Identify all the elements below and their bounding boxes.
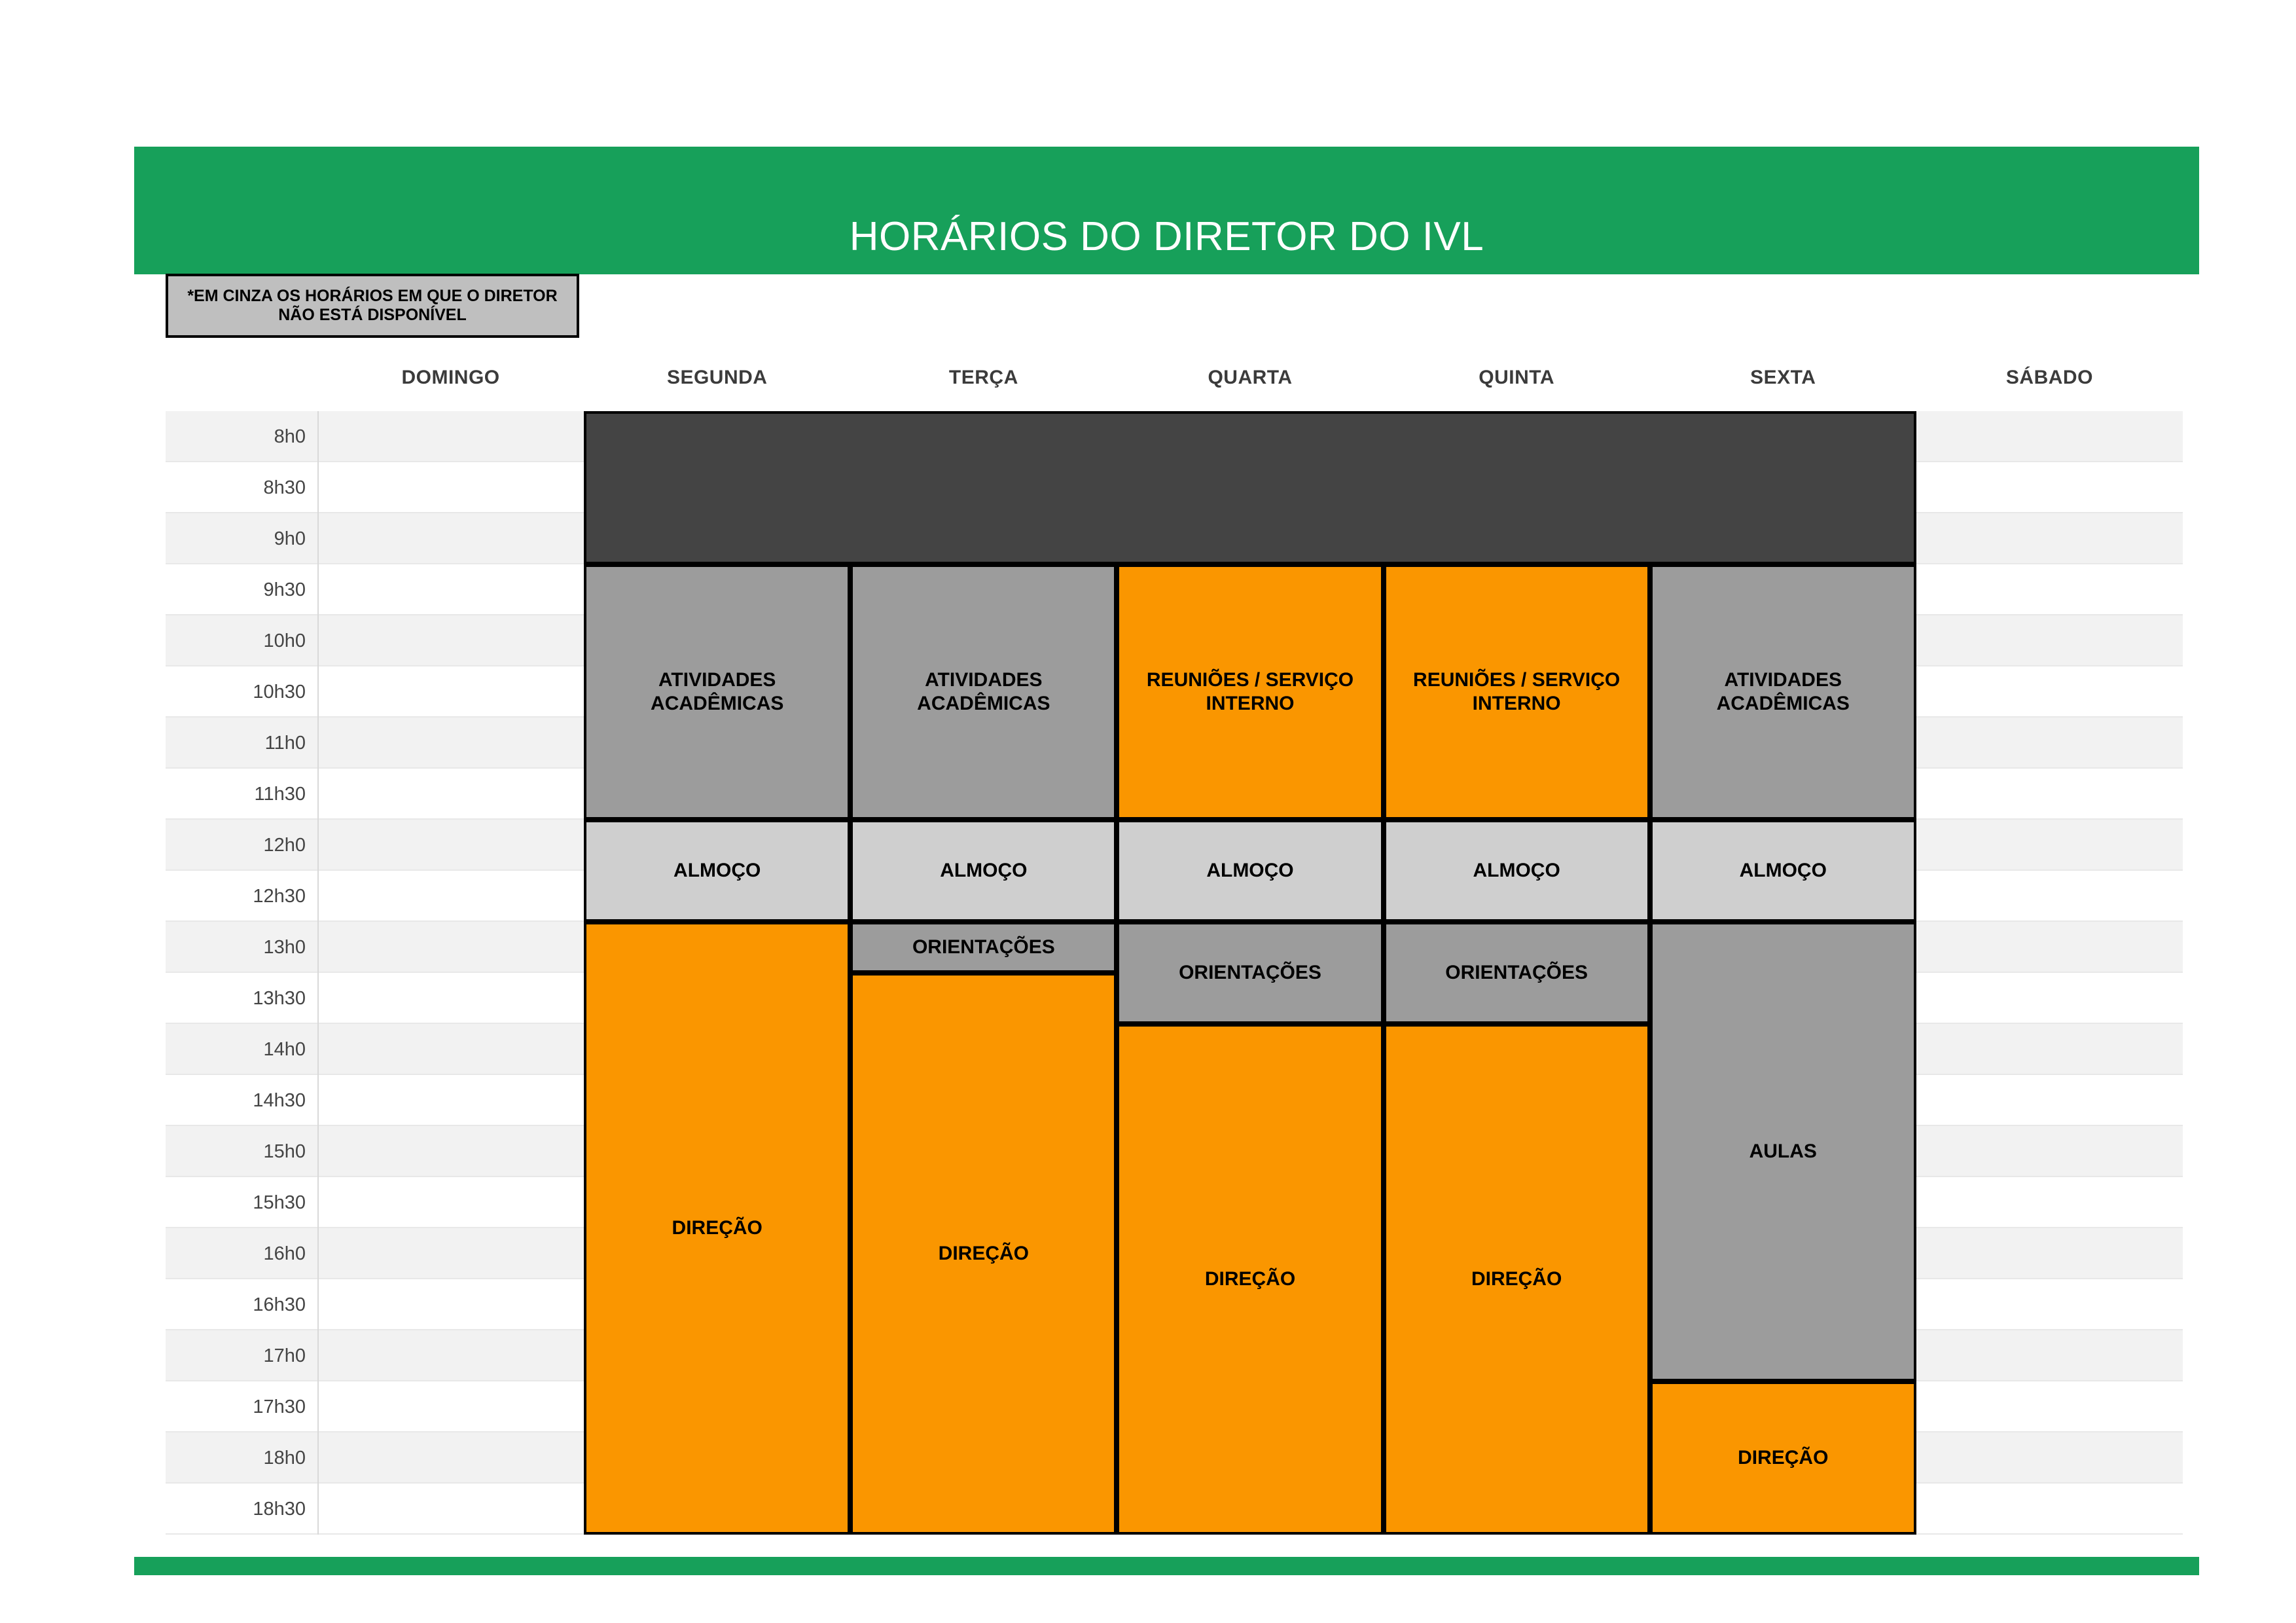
event-block-ter-orientacoes[interactable]: ORIENTAÇÕES	[850, 922, 1117, 973]
event-block-seg-direcao[interactable]: DIREÇÃO	[584, 922, 850, 1535]
time-label: 8h0	[166, 411, 317, 462]
time-label: 11h0	[166, 718, 317, 769]
event-block-qua-reunioes[interactable]: REUNIÕES / SERVIÇO INTERNO	[1117, 564, 1383, 820]
time-label: 10h0	[166, 615, 317, 666]
event-block-qui-reunioes[interactable]: REUNIÕES / SERVIÇO INTERNO	[1384, 564, 1650, 820]
schedule-page: HORÁRIOS DO DIRETOR DO IVL *EM CINZA OS …	[0, 0, 2296, 1623]
event-block-qui-orientacoes[interactable]: ORIENTAÇÕES	[1384, 922, 1650, 1024]
page-title: HORÁRIOS DO DIRETOR DO IVL	[850, 213, 1484, 260]
event-label: REUNIÕES / SERVIÇO INTERNO	[1391, 668, 1642, 716]
event-label: ALMOÇO	[1206, 859, 1293, 883]
event-label: DIREÇÃO	[939, 1242, 1029, 1266]
time-label: 15h30	[166, 1177, 317, 1228]
event-label: REUNIÕES / SERVIÇO INTERNO	[1124, 668, 1375, 716]
event-block-qua-almoco[interactable]: ALMOÇO	[1117, 820, 1383, 922]
event-block-sex-direcao[interactable]: DIREÇÃO	[1650, 1381, 1916, 1535]
time-label: 15h0	[166, 1126, 317, 1177]
time-label: 11h30	[166, 769, 317, 820]
event-label: ORIENTAÇÕES	[912, 936, 1055, 959]
time-column-divider	[317, 411, 319, 1535]
day-header-sexta: SEXTA	[1650, 354, 1916, 402]
event-block-ter-direcao[interactable]: DIREÇÃO	[850, 973, 1117, 1535]
bottom-accent-bar	[134, 1557, 2199, 1575]
time-label: 10h30	[166, 666, 317, 718]
event-block-seg-almoco[interactable]: ALMOÇO	[584, 820, 850, 922]
time-label: 9h0	[166, 513, 317, 564]
schedule-grid: 8h08h309h09h3010h010h3011h011h3012h012h3…	[166, 411, 2183, 1535]
time-label: 12h30	[166, 871, 317, 922]
event-label: ORIENTAÇÕES	[1179, 961, 1321, 985]
event-label: ATIVIDADES ACADÊMICAS	[1658, 668, 1909, 716]
time-label: 14h30	[166, 1075, 317, 1126]
event-block-qui-direcao[interactable]: DIREÇÃO	[1384, 1024, 1650, 1535]
event-label: DIREÇÃO	[1471, 1267, 1562, 1291]
day-header-row: DOMINGOSEGUNDATERÇAQUARTAQUINTASEXTASÁBA…	[166, 354, 2183, 402]
event-label: ORIENTAÇÕES	[1445, 961, 1588, 985]
event-label: ATIVIDADES ACADÊMICAS	[858, 668, 1109, 716]
availability-notice: *EM CINZA OS HORÁRIOS EM QUE O DIRETOR N…	[166, 274, 579, 338]
day-header-quarta: QUARTA	[1117, 354, 1383, 402]
day-header-domingo: DOMINGO	[317, 354, 584, 402]
time-label: 9h30	[166, 564, 317, 615]
time-label: 12h0	[166, 820, 317, 871]
event-block-seg-academicas[interactable]: ATIVIDADES ACADÊMICAS	[584, 564, 850, 820]
availability-notice-text: *EM CINZA OS HORÁRIOS EM QUE O DIRETOR N…	[175, 287, 570, 325]
event-block-qui-almoco[interactable]: ALMOÇO	[1384, 820, 1650, 922]
time-label: 8h30	[166, 462, 317, 513]
event-block-qua-direcao[interactable]: DIREÇÃO	[1117, 1024, 1383, 1535]
event-label: DIREÇÃO	[672, 1216, 762, 1240]
event-label: ALMOÇO	[673, 859, 761, 883]
day-header-quinta: QUINTA	[1384, 354, 1650, 402]
time-label: 18h30	[166, 1484, 317, 1535]
event-block-ter-academicas[interactable]: ATIVIDADES ACADÊMICAS	[850, 564, 1117, 820]
event-block-ter-almoco[interactable]: ALMOÇO	[850, 820, 1117, 922]
event-label: DIREÇÃO	[1738, 1446, 1828, 1470]
time-label: 13h0	[166, 922, 317, 973]
day-header-sabado: SÁBADO	[1916, 354, 2183, 402]
event-label: ALMOÇO	[1473, 859, 1560, 883]
event-block-sex-almoco[interactable]: ALMOÇO	[1650, 820, 1916, 922]
event-label: ATIVIDADES ACADÊMICAS	[592, 668, 842, 716]
event-block-sex-aulas[interactable]: AULAS	[1650, 922, 1916, 1381]
time-label: 14h0	[166, 1024, 317, 1075]
event-block-sex-academicas[interactable]: ATIVIDADES ACADÊMICAS	[1650, 564, 1916, 820]
day-header-segunda: SEGUNDA	[584, 354, 850, 402]
time-label: 17h30	[166, 1381, 317, 1432]
event-label: ALMOÇO	[1740, 859, 1827, 883]
day-header-terca: TERÇA	[850, 354, 1117, 402]
event-label: AULAS	[1749, 1140, 1817, 1163]
time-label: 16h30	[166, 1279, 317, 1330]
event-label: DIREÇÃO	[1205, 1267, 1295, 1291]
time-label: 18h0	[166, 1432, 317, 1484]
time-label: 13h30	[166, 973, 317, 1024]
title-banner: HORÁRIOS DO DIRETOR DO IVL	[134, 147, 2199, 274]
event-block-qua-orientacoes[interactable]: ORIENTAÇÕES	[1117, 922, 1383, 1024]
event-block-blocked-morning[interactable]	[584, 411, 1916, 564]
event-label: ALMOÇO	[940, 859, 1027, 883]
time-label: 16h0	[166, 1228, 317, 1279]
time-label: 17h0	[166, 1330, 317, 1381]
